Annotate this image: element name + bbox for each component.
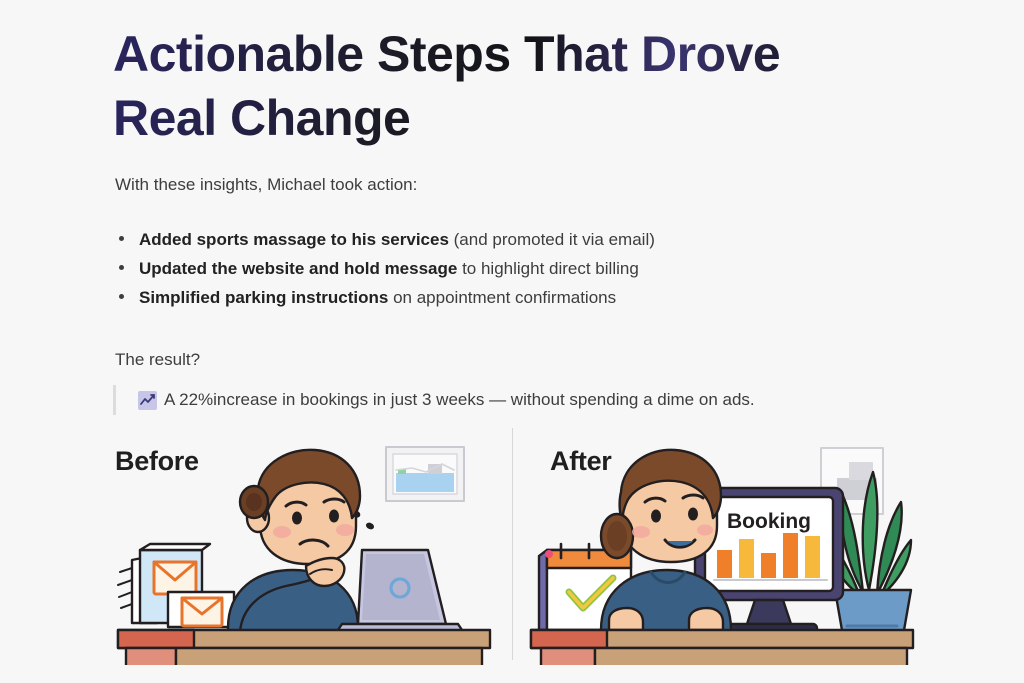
list-item: Added sports massage to his services (an…	[115, 225, 895, 254]
desk	[118, 630, 490, 665]
bullet-dot-icon	[119, 294, 124, 299]
framed-wall-picture	[386, 447, 464, 501]
result-quote: A 22%increase in bookings in just 3 week…	[113, 385, 755, 415]
bullet-dot-icon	[119, 265, 124, 270]
panel-divider	[512, 428, 513, 660]
action-bullet-list: Added sports massage to his services (an…	[115, 225, 895, 312]
paper-stack-icon	[118, 544, 234, 627]
bullet-dot-icon	[119, 236, 124, 241]
slide-canvas: Actionable Steps That Drove Real Change …	[0, 0, 1024, 683]
after-illustration: Booking	[525, 440, 925, 665]
result-label: The result?	[115, 348, 200, 372]
page-title: Actionable Steps That Drove Real Change	[113, 22, 903, 150]
list-item-rest: to highlight direct billing	[457, 259, 638, 278]
smiling-woman-figure	[601, 450, 731, 634]
monitor-title: Booking	[727, 510, 811, 533]
chart-increasing-icon	[138, 391, 157, 410]
list-item-rest: on appointment confirmations	[388, 288, 616, 307]
result-quote-text: A 22%increase in bookings in just 3 week…	[164, 390, 755, 410]
list-item: Simplified parking instructions on appoi…	[115, 283, 895, 312]
list-item: Updated the website and hold message to …	[115, 254, 895, 283]
desk	[531, 630, 913, 665]
laptop-icon	[334, 550, 466, 636]
list-item-rest: (and promoted it via email)	[449, 230, 655, 249]
list-item-bold: Simplified parking instructions	[139, 288, 388, 307]
before-illustration	[110, 440, 500, 665]
list-item-bold: Added sports massage to his services	[139, 230, 449, 249]
intro-paragraph: With these insights, Michael took action…	[115, 172, 417, 198]
list-item-bold: Updated the website and hold message	[139, 259, 457, 278]
worried-woman-figure	[228, 450, 360, 632]
